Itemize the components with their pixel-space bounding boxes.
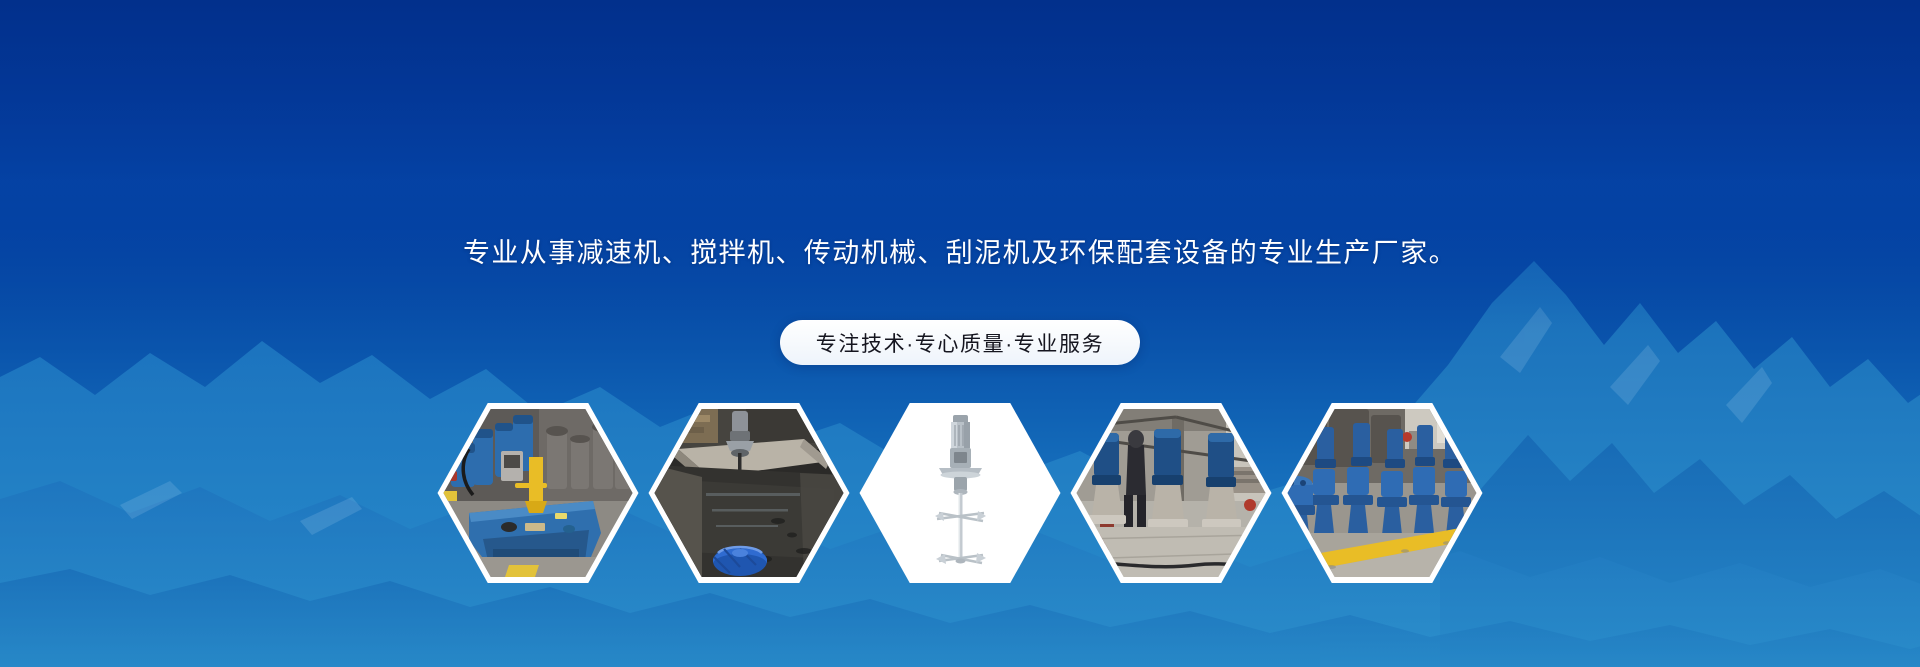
hexagon-photo-tank-mixer[interactable]: 污水池上安装的搅拌机与蓝色叶轮 [649,403,850,583]
hexagon-1-image [444,409,633,577]
hexagon-photo-gearbox-workshop[interactable]: 蓝色减速机成品陈列于车间地面 [438,403,639,583]
hexagon-4-alt: 三台蓝色立式减速机装配中 [1071,403,1072,404]
hexagon-2-image [655,409,844,577]
hexagon-5-alt: 成排蓝色立式减速机与黄色地标线 [1282,403,1283,404]
hexagon-3-alt: 立式搅拌机产品白底图 [860,403,861,404]
hexagon-1-alt: 蓝色减速机成品陈列于车间地面 [438,403,439,404]
hexagon-4-image [1077,409,1266,577]
hexagon-gallery: 蓝色减速机成品陈列于车间地面 [438,403,1483,583]
slogan-button-container: 专注技术·专心质量·专业服务 [0,320,1920,365]
hero-banner: 专业从事减速机、搅拌机、传动机械、刮泥机及环保配套设备的专业生产厂家。 专注技术… [0,0,1920,667]
hexagon-photo-vertical-units[interactable]: 三台蓝色立式减速机装配中 [1071,403,1272,583]
hexagon-photo-unit-row[interactable]: 成排蓝色立式减速机与黄色地标线 [1282,403,1483,583]
hexagon-2-alt: 污水池上安装的搅拌机与蓝色叶轮 [649,403,650,404]
hexagon-3-image [866,409,1055,577]
background-haze-overlay [0,0,1920,330]
banner-headline: 专业从事减速机、搅拌机、传动机械、刮泥机及环保配套设备的专业生产厂家。 [0,236,1920,270]
hexagon-photo-product-agitator[interactable]: 立式搅拌机产品白底图 [860,403,1061,583]
hexagon-5-image [1288,409,1477,577]
slogan-button[interactable]: 专注技术·专心质量·专业服务 [780,320,1140,365]
